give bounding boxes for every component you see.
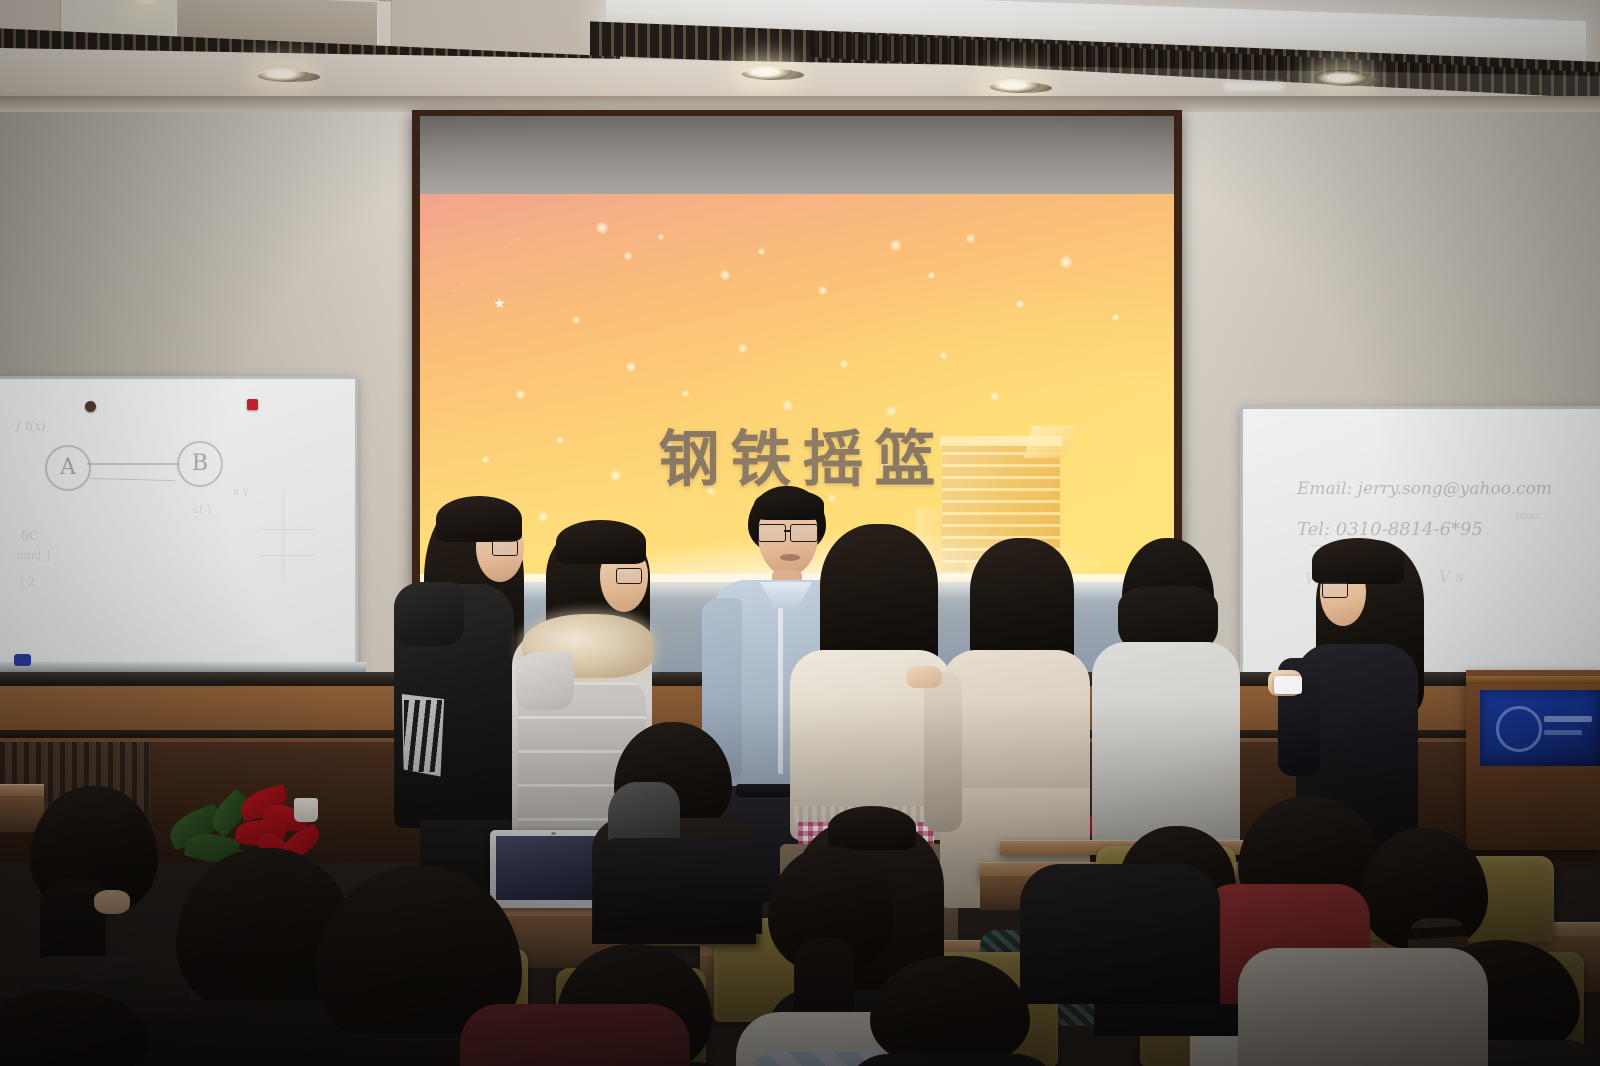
red-magnet[interactable] [247,399,258,410]
lectern-top-edge [1466,676,1600,684]
audience-student-cream-coat [1238,948,1488,1066]
parka-hood [516,652,574,710]
whiteboard-faded-note: x y [233,485,249,498]
ear-cheek [94,890,130,914]
lectern-logo-icon [1496,706,1542,752]
whiteboard-faded-note: ∫ f(x) [15,419,46,433]
ceiling-spotlight-3 [1314,70,1368,86]
hand-left [906,666,942,688]
hair-top [556,520,646,564]
whiteboard-faded-line [283,491,284,581]
bokeh-particle [966,234,975,243]
bokeh-particle [818,286,827,295]
ceiling-spotlight-2 [738,64,792,80]
bokeh-particle [758,248,765,255]
jacket-graphic-detail [404,700,442,772]
whiteboard-node-b: B [177,441,223,487]
hair-fringe [754,490,824,520]
bokeh-particle [720,270,730,280]
white-mug[interactable] [294,798,318,822]
mouth [780,554,800,561]
whiteboard-edge-secondary [89,478,175,481]
glasses-icon [1322,582,1348,598]
whiteboard-faded-note: δC [21,529,39,544]
whiteboard-faded-note: c( ) [193,503,211,516]
glasses-left-lens-icon [758,524,786,542]
shirt-placket [778,584,783,774]
bokeh-particle [990,392,999,401]
bokeh-particle [626,362,636,372]
whiteboard-faded-note: pass [1515,509,1540,522]
bokeh-particle [1112,314,1119,321]
bokeh-particle [738,344,747,353]
bokeh-particle [890,240,901,251]
whiteboard-faded-note: ) 2 [19,575,35,589]
star-solid-icon [494,298,505,309]
left-whiteboard[interactable]: A B ∫ f(x) δC min[ ] ) 2 c( ) x y [0,376,358,674]
glasses-icon [616,568,642,584]
whiteboard-email-line: Email: jerry.song@yahoo.com [1297,479,1552,499]
hair-bun [828,806,916,850]
bokeh-particle [840,360,848,368]
lectern-screen-text [1544,730,1582,735]
whiteboard-faded-note: V s [1439,567,1464,586]
screen-unlit-top-area [420,116,1174,194]
dark-jacket [1020,864,1220,1004]
bokeh-particle [682,390,689,397]
ceiling-light-reflection [1224,82,1284,91]
bokeh-particle [596,222,608,234]
bokeh-particle [624,252,632,260]
glasses-right-lens-icon [790,524,818,542]
hair-top [1312,538,1404,584]
whiteboard-node-a: A [45,445,91,491]
lectern-screen-text [1544,716,1592,722]
shoulders [844,1054,1060,1066]
whiteboard-faded-line [259,529,315,530]
bokeh-particle [516,390,525,399]
black-puffer-jacket [594,838,762,934]
bokeh-particle [940,352,947,359]
white-paper-held[interactable] [1274,676,1302,694]
whiteboard-faded-note: min[ ] [17,549,50,562]
dark-magnet[interactable] [85,401,96,412]
glasses-bridge-icon [784,530,790,532]
whiteboard-tel-line: Tel: 0310-8814-6*95 [1297,519,1483,540]
glasses-icon [492,540,518,556]
ceiling-spotlight-1 [254,66,308,82]
bokeh-particle [658,234,664,240]
ceiling-spotlight-4 [986,77,1040,93]
whiteboard-edge-a-b [87,463,179,465]
slide-title: 钢铁摇篮 [420,409,1174,498]
bokeh-particle [928,272,935,279]
whiteboard-faded-line [259,555,315,556]
maroon-jacket [460,1004,690,1066]
jacket-hood [394,582,464,646]
classroom-presentation-photo: 钢铁摇篮 A B ∫ f(x) δC min[ ] ) 2 c( ) x y E… [0,0,1600,1066]
lectern[interactable] [1466,670,1600,850]
bokeh-particle [572,316,580,324]
bokeh-particle [1060,256,1072,268]
laptop-camera-icon [551,832,556,835]
blue-marker-cap[interactable] [14,654,31,666]
star-outline-small-icon [452,282,474,304]
hair-top [436,496,522,542]
arm-left [924,672,962,832]
star-outline-icon [504,238,532,266]
lectern-monitor[interactable] [1480,690,1600,766]
bokeh-particle [538,512,548,522]
grey-sweatshirt [1092,642,1240,856]
bokeh-particle [1016,300,1024,308]
